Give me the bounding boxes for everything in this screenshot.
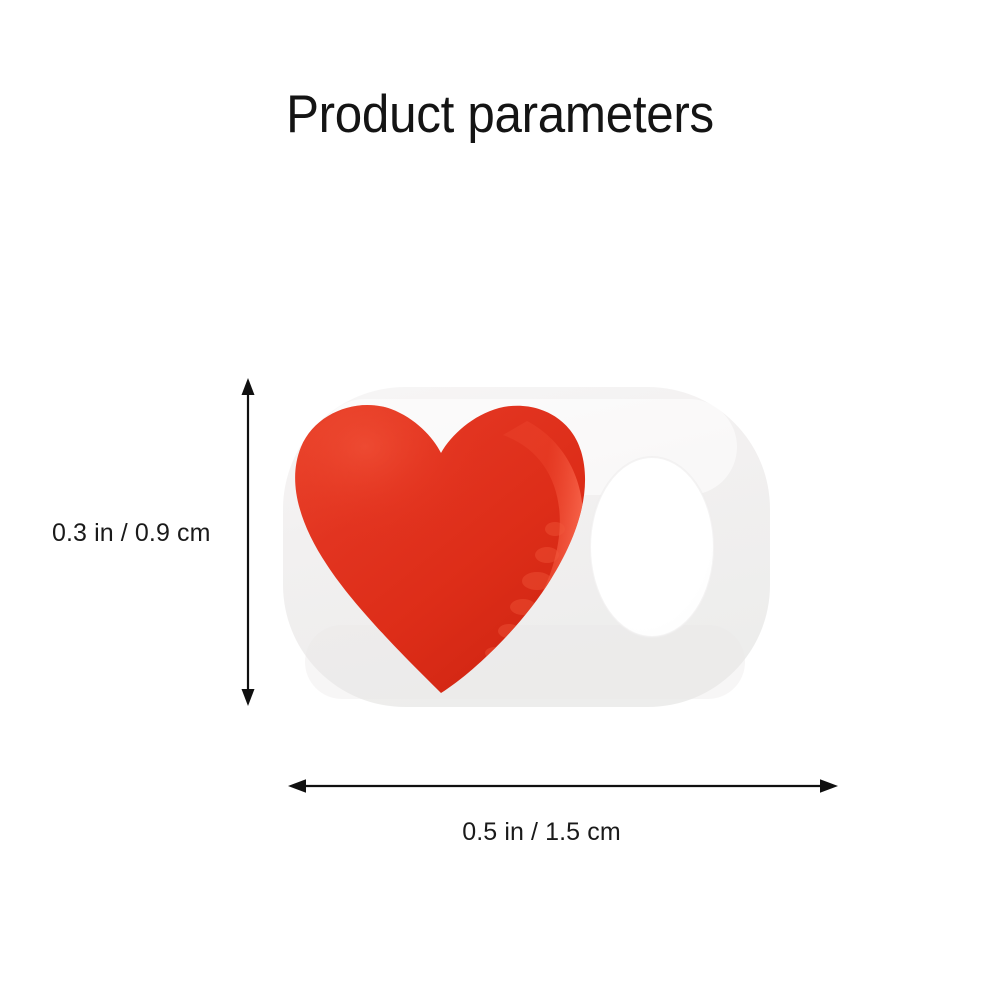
page-title: Product parameters	[35, 88, 965, 141]
cover-thumb-hole	[590, 457, 714, 637]
height-dimension-label: 0.3 in / 0.9 cm	[52, 519, 211, 548]
width-dimension-line	[282, 770, 844, 804]
product-image	[265, 375, 780, 715]
width-dimension-label: 0.5 in / 1.5 cm	[0, 818, 1000, 847]
width-arrowhead-right	[820, 779, 838, 793]
width-arrowhead-left	[288, 779, 306, 793]
height-dimension-line	[232, 372, 266, 712]
product-parameters-page: Product parameters 0.3 in / 0.9 cm 0.5 i…	[0, 0, 1000, 1000]
height-arrowhead-bottom	[242, 689, 255, 706]
height-arrowhead-top	[242, 378, 255, 395]
